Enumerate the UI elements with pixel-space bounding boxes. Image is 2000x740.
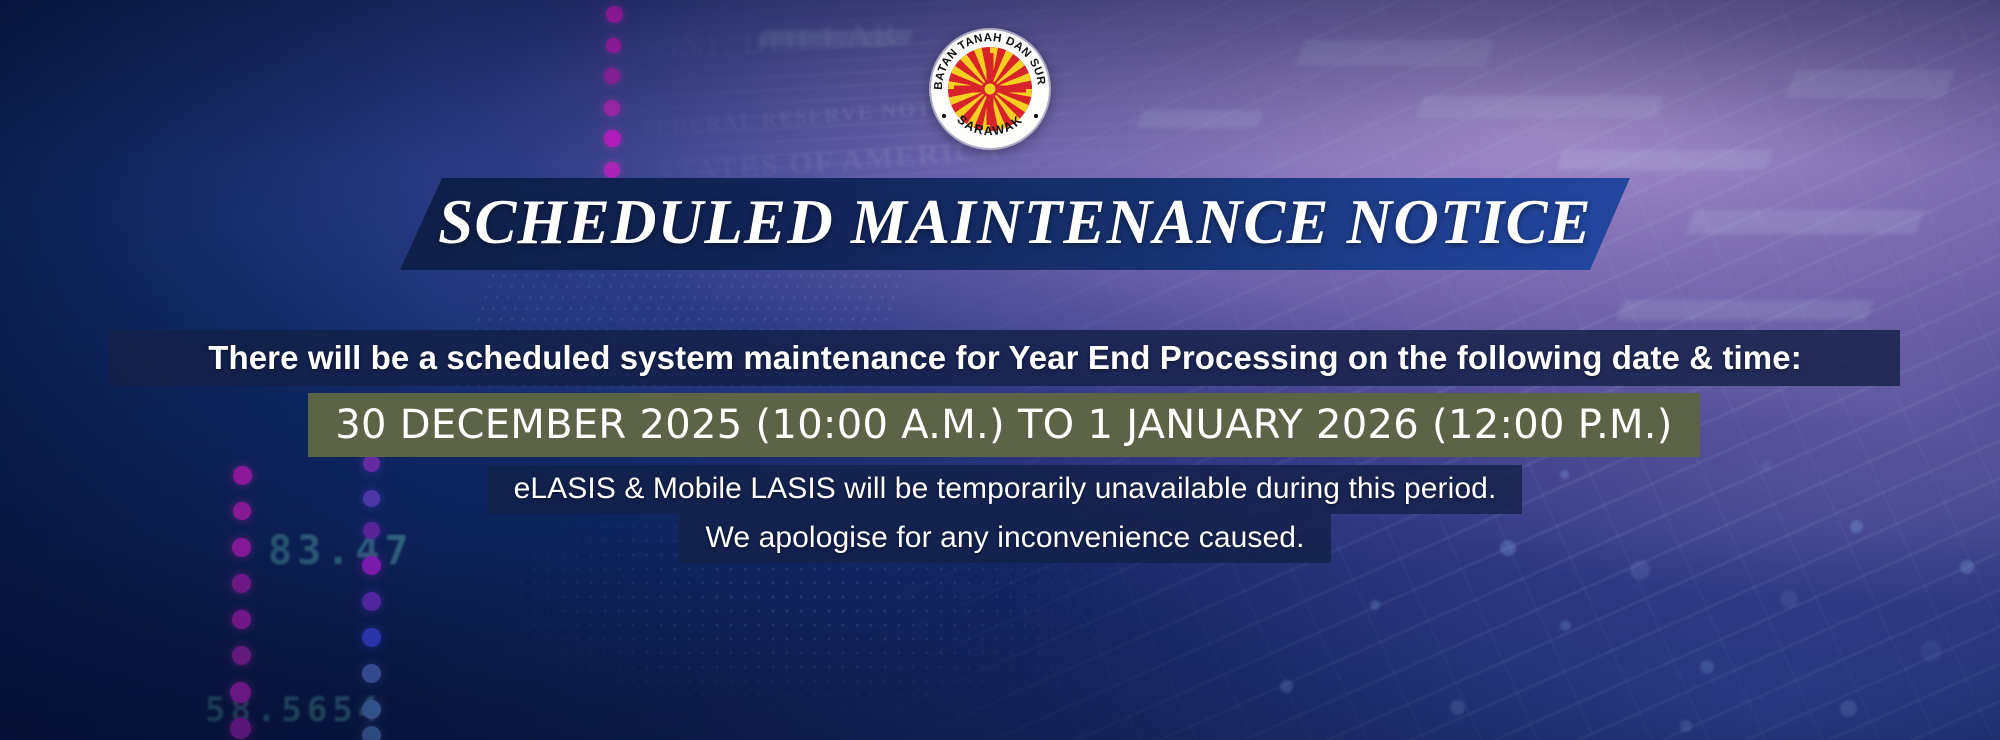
maintenance-notice-banner: ONE DOLLAR FEDERAL RESERVE NOTE STATES O… [0, 0, 2000, 740]
logo-ring-text: JABATAN TANAH DAN SURVEI SARAWAK [931, 30, 1049, 148]
footer-text-block: eLASIS & Mobile LASIS will be temporaril… [355, 465, 1655, 563]
logo-ring-text-bottom: SARAWAK [954, 112, 1025, 138]
svg-text:JABATAN TANAH DAN SURVEI: JABATAN TANAH DAN SURVEI [931, 30, 1047, 90]
date-range-text: 30 DECEMBER 2025 (10:00 A.M.) TO 1 JANUA… [335, 402, 1672, 448]
svg-text:SARAWAK: SARAWAK [954, 112, 1025, 138]
jtss-logo: JABATAN TANAH DAN SURVEI SARAWAK [931, 30, 1049, 148]
title-banner: SCHEDULED MAINTENANCE NOTICE [400, 178, 1630, 270]
logo-ring-text-top: JABATAN TANAH DAN SURVEI [931, 30, 1047, 90]
footer-line-1: eLASIS & Mobile LASIS will be temporaril… [488, 465, 1523, 514]
date-range-bar: 30 DECEMBER 2025 (10:00 A.M.) TO 1 JANUA… [308, 393, 1700, 457]
subtitle-bar: There will be a scheduled system mainten… [110, 330, 1900, 386]
subtitle-text: There will be a scheduled system mainten… [208, 339, 1802, 377]
footer-line-2: We apologise for any inconvenience cause… [679, 514, 1330, 563]
page-title: SCHEDULED MAINTENANCE NOTICE [438, 191, 1592, 258]
